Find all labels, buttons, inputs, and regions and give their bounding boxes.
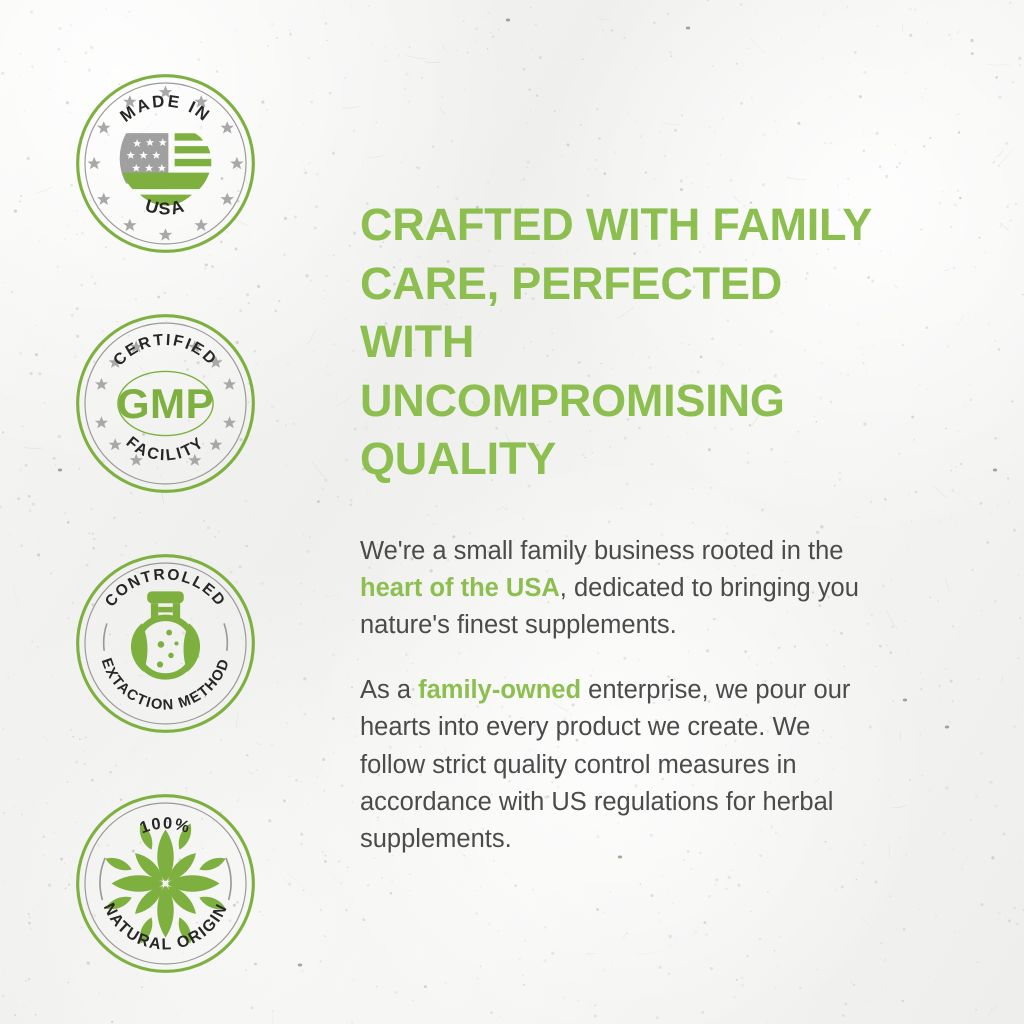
emphasized-text: family-owned — [418, 676, 581, 704]
badge-gmp-certified-facility: GMP CERTIFIED FACILITY — [74, 312, 257, 495]
trust-badge-column: MADE IN USA — [0, 0, 330, 1024]
badge-natural-origin-graphic: 100% NATURAL ORIGIN — [74, 792, 257, 975]
badge-natural-origin: 100% NATURAL ORIGIN — [74, 792, 257, 975]
body-paragraph-1: We're a small family business rooted in … — [360, 533, 880, 645]
body-paragraph-2: As a family-owned enterprise, we pour ou… — [360, 672, 880, 858]
badge-top-text: CERTIFIED — [110, 332, 220, 370]
badge-top-text: CONTROLLED — [102, 566, 229, 610]
badge-gmp-center-text: GMP — [116, 380, 213, 427]
badge-made-in-usa-graphic: MADE IN USA — [74, 72, 257, 255]
badge-gmp-graphic: GMP CERTIFIED FACILITY — [74, 312, 257, 495]
badge-bottom-text: EXTACTION METHOD — [97, 656, 232, 713]
badge-arc-right — [225, 858, 230, 900]
badge-arc-right — [224, 623, 227, 650]
promo-panel: MADE IN USA — [0, 0, 1024, 1024]
text-content-column: Crafted With Family Care, Perfected With… — [330, 0, 1024, 1024]
badge-arc-left — [103, 623, 106, 650]
badge-controlled-extaction-method: CONTROLLED EXTACTION METHOD — [74, 552, 257, 735]
badge-bottom-text: USA — [143, 195, 188, 218]
badge-extraction-graphic: CONTROLLED EXTACTION METHOD — [74, 552, 257, 735]
badge-arc-left — [100, 858, 105, 900]
flask-leaf-icon — [130, 591, 199, 676]
badge-top-text: MADE IN — [116, 91, 214, 125]
body-text: We're a small family business rooted in … — [360, 537, 843, 565]
usa-flag-circle-icon — [119, 133, 211, 205]
body-text: As a — [360, 676, 418, 704]
page-headline: Crafted With Family Care, Perfected With… — [360, 196, 906, 489]
badge-made-in-usa: MADE IN USA — [74, 72, 257, 255]
emphasized-text: heart of the USA — [360, 574, 560, 602]
